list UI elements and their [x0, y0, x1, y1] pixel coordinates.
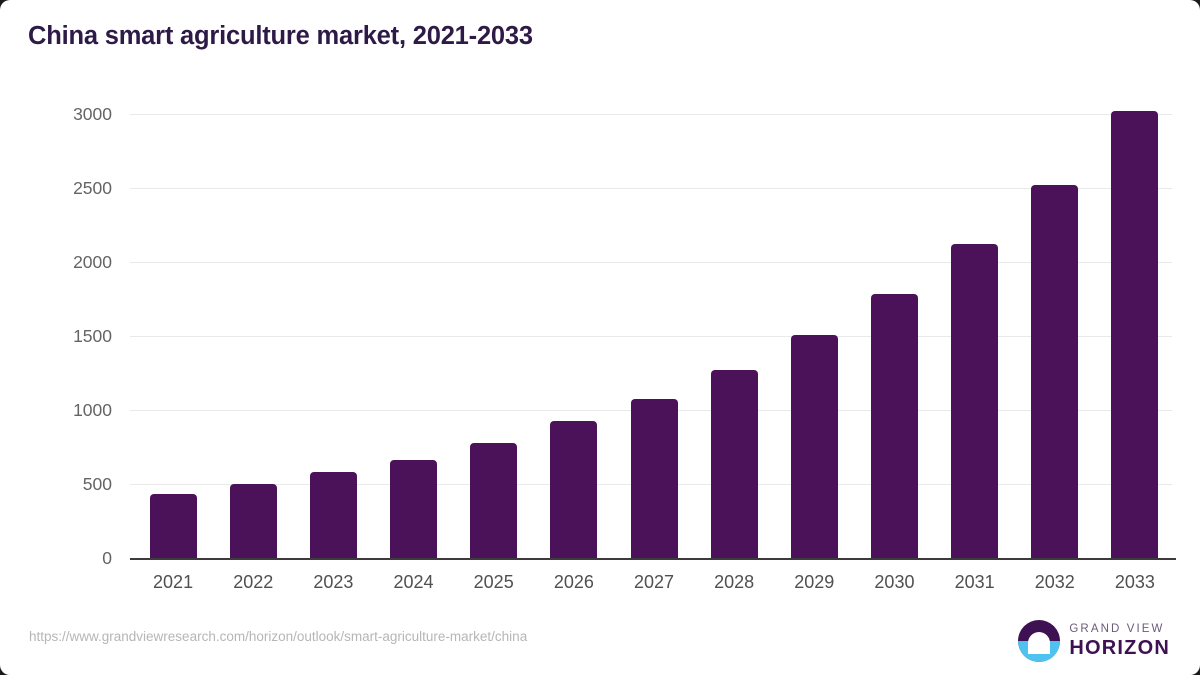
bar-2033[interactable]	[1111, 111, 1158, 558]
source-url[interactable]: https://www.grandviewresearch.com/horizo…	[29, 629, 527, 644]
bar-2021[interactable]	[150, 494, 197, 558]
x-axis-tick-label-2025: 2025	[453, 572, 534, 593]
x-axis-tick-label-2032: 2032	[1014, 572, 1095, 593]
x-axis-tick-label-2022: 2022	[213, 572, 294, 593]
logo-wordmark-bottom: HORIZON	[1069, 638, 1170, 658]
x-axis-tick-label-2031: 2031	[934, 572, 1015, 593]
x-axis-tick-label-2021: 2021	[133, 572, 214, 593]
bar-2023[interactable]	[310, 472, 357, 558]
page-title: China smart agriculture market, 2021-203…	[28, 22, 533, 51]
logo-wordmark: GRAND VIEW HORIZON	[1069, 624, 1170, 659]
gridline	[130, 188, 1172, 189]
brand-logo: GRAND VIEW HORIZON	[1018, 620, 1170, 662]
chart-canvas: China smart agriculture market, 2021-203…	[0, 0, 1200, 675]
y-axis-tick-label: 1000	[0, 400, 112, 421]
bar-2027[interactable]	[631, 399, 678, 558]
logo-wordmark-top: GRAND VIEW	[1069, 624, 1170, 636]
x-axis-tick-label-2028: 2028	[694, 572, 775, 593]
y-axis-tick-label: 2000	[0, 252, 112, 273]
x-axis-line	[130, 558, 1176, 560]
bar-2031[interactable]	[951, 244, 998, 559]
bar-2029[interactable]	[791, 335, 838, 558]
bar-2022[interactable]	[230, 484, 277, 558]
logo-sun-dome	[1028, 632, 1050, 654]
bar-2026[interactable]	[550, 421, 597, 558]
bar-2025[interactable]	[470, 443, 517, 558]
plot-area	[130, 114, 1172, 558]
bar-2024[interactable]	[390, 460, 437, 558]
x-axis-tick-label-2033: 2033	[1094, 572, 1175, 593]
bar-2028[interactable]	[711, 370, 758, 558]
x-axis-tick-label-2029: 2029	[774, 572, 855, 593]
bar-2032[interactable]	[1031, 185, 1078, 558]
y-axis-tick-label: 2500	[0, 178, 112, 199]
x-axis-tick-label-2030: 2030	[854, 572, 935, 593]
x-axis-tick-label-2026: 2026	[533, 572, 614, 593]
gridline	[130, 114, 1172, 115]
x-axis-tick-label-2027: 2027	[614, 572, 695, 593]
y-axis-tick-label: 3000	[0, 104, 112, 125]
logo-line-upper	[1031, 647, 1048, 650]
x-axis-tick-label-2024: 2024	[373, 572, 454, 593]
y-axis-tick-label: 500	[0, 474, 112, 495]
grand-view-horizon-circle-icon	[1018, 620, 1060, 662]
x-axis-tick-label-2023: 2023	[293, 572, 374, 593]
gridline	[130, 262, 1172, 263]
y-axis-tick-label: 0	[0, 548, 112, 569]
y-axis-tick-label: 1500	[0, 326, 112, 347]
gridline	[130, 336, 1172, 337]
bar-2030[interactable]	[871, 294, 918, 558]
